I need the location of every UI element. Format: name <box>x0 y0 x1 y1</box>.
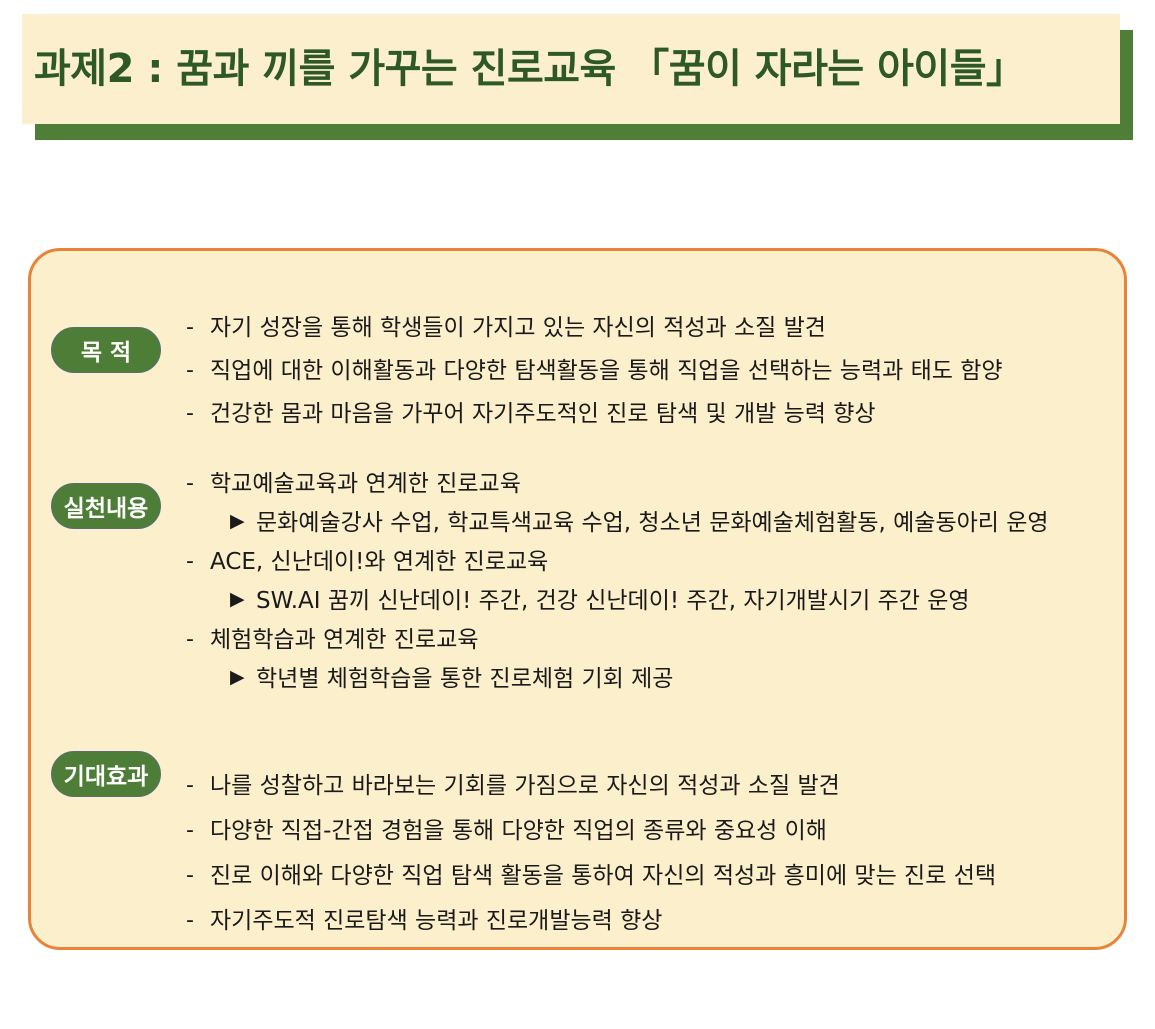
dash-marker-icon: - <box>186 910 210 932</box>
section-body-goal: - 자기 성장을 통해 학생들이 가지고 있는 자신의 적성과 소질 발견 - … <box>186 317 1110 426</box>
sub-list-item: ▶ 문화예술강사 수업, 학교특색교육 수업, 청소년 문화예술체험활동, 예술… <box>186 512 1110 535</box>
triangle-bullet-icon: ▶ <box>230 590 256 609</box>
list-item: - 학교예술교육과 연계한 진로교육 <box>186 473 1110 496</box>
dash-marker-icon: - <box>186 360 210 382</box>
list-item-text: 자기 성장을 통해 학생들이 가지고 있는 자신의 적성과 소질 발견 <box>210 317 826 340</box>
list-item-text: 학교예술교육과 연계한 진로교육 <box>210 473 521 496</box>
list-item: - 건강한 몸과 마음을 가꾸어 자기주도적인 진로 탐색 및 개발 능력 향상 <box>186 403 1110 426</box>
sub-list-item-text: 문화예술강사 수업, 학교특색교육 수업, 청소년 문화예술체험활동, 예술동아… <box>256 512 1049 535</box>
list-item-text: 직업에 대한 이해활동과 다양한 탐색활동을 통해 직업을 선택하는 능력과 태… <box>210 360 1003 383</box>
dash-marker-icon: - <box>186 629 210 651</box>
title-banner: 과제2 : 꿈과 끼를 가꾸는 진로교육 「꿈이 자라는 아이들」 <box>22 14 1133 140</box>
list-item: - 다양한 직접-간접 경험을 통해 다양한 직업의 종류와 중요성 이해 <box>186 820 1110 843</box>
list-item: - 나를 성찰하고 바라보는 기회를 가짐으로 자신의 적성과 소질 발견 <box>186 775 1110 798</box>
list-item: - 체험학습과 연계한 진로교육 <box>186 629 1110 652</box>
list-item: - 자기 성장을 통해 학생들이 가지고 있는 자신의 적성과 소질 발견 <box>186 317 1110 340</box>
section-label-goal: 목 적 <box>51 327 161 373</box>
list-item: - 진로 이해와 다양한 직업 탐색 활동을 통하여 자신의 적성과 흥미에 맞… <box>186 865 1110 888</box>
content-panel: 목 적 - 자기 성장을 통해 학생들이 가지고 있는 자신의 적성과 소질 발… <box>28 248 1127 950</box>
list-item-text: 진로 이해와 다양한 직업 탐색 활동을 통하여 자신의 적성과 흥미에 맞는 … <box>210 865 996 888</box>
section-label-practice: 실천내용 <box>51 483 161 529</box>
dash-marker-icon: - <box>186 473 210 495</box>
dash-marker-icon: - <box>186 820 210 842</box>
list-item: - ACE, 신난데이!와 연계한 진로교육 <box>186 551 1110 574</box>
dash-marker-icon: - <box>186 551 210 573</box>
list-item-text: ACE, 신난데이!와 연계한 진로교육 <box>210 551 548 574</box>
section-body-effect: - 나를 성찰하고 바라보는 기회를 가짐으로 자신의 적성과 소질 발견 - … <box>186 775 1110 955</box>
list-item-text: 자기주도적 진로탐색 능력과 진로개발능력 향상 <box>210 910 662 933</box>
page-title: 과제2 : 꿈과 끼를 가꾸는 진로교육 「꿈이 자라는 아이들」 <box>34 49 1026 89</box>
list-item-text: 체험학습과 연계한 진로교육 <box>210 629 479 652</box>
dash-marker-icon: - <box>186 317 210 339</box>
sub-list-item: ▶ 학년별 체험학습을 통한 진로체험 기회 제공 <box>186 668 1110 691</box>
section-body-practice: - 학교예술교육과 연계한 진로교육 ▶ 문화예술강사 수업, 학교특색교육 수… <box>186 473 1110 707</box>
section-label-effect: 기대효과 <box>51 751 161 797</box>
triangle-bullet-icon: ▶ <box>230 668 256 687</box>
sub-list-item-text: 학년별 체험학습을 통한 진로체험 기회 제공 <box>256 668 673 691</box>
dash-marker-icon: - <box>186 865 210 887</box>
sub-list-item: ▶ SW.AI 꿈끼 신난데이! 주간, 건강 신난데이! 주간, 자기개발시기… <box>186 590 1110 613</box>
list-item-text: 다양한 직접-간접 경험을 통해 다양한 직업의 종류와 중요성 이해 <box>210 820 827 843</box>
dash-marker-icon: - <box>186 403 210 425</box>
list-item-text: 나를 성찰하고 바라보는 기회를 가짐으로 자신의 적성과 소질 발견 <box>210 775 840 798</box>
list-item: - 자기주도적 진로탐색 능력과 진로개발능력 향상 <box>186 910 1110 933</box>
sub-list-item-text: SW.AI 꿈끼 신난데이! 주간, 건강 신난데이! 주간, 자기개발시기 주… <box>256 590 970 613</box>
list-item: - 직업에 대한 이해활동과 다양한 탐색활동을 통해 직업을 선택하는 능력과… <box>186 360 1110 383</box>
title-plate: 과제2 : 꿈과 끼를 가꾸는 진로교육 「꿈이 자라는 아이들」 <box>22 14 1120 124</box>
dash-marker-icon: - <box>186 775 210 797</box>
list-item-text: 건강한 몸과 마음을 가꾸어 자기주도적인 진로 탐색 및 개발 능력 향상 <box>210 403 876 426</box>
triangle-bullet-icon: ▶ <box>230 512 256 531</box>
